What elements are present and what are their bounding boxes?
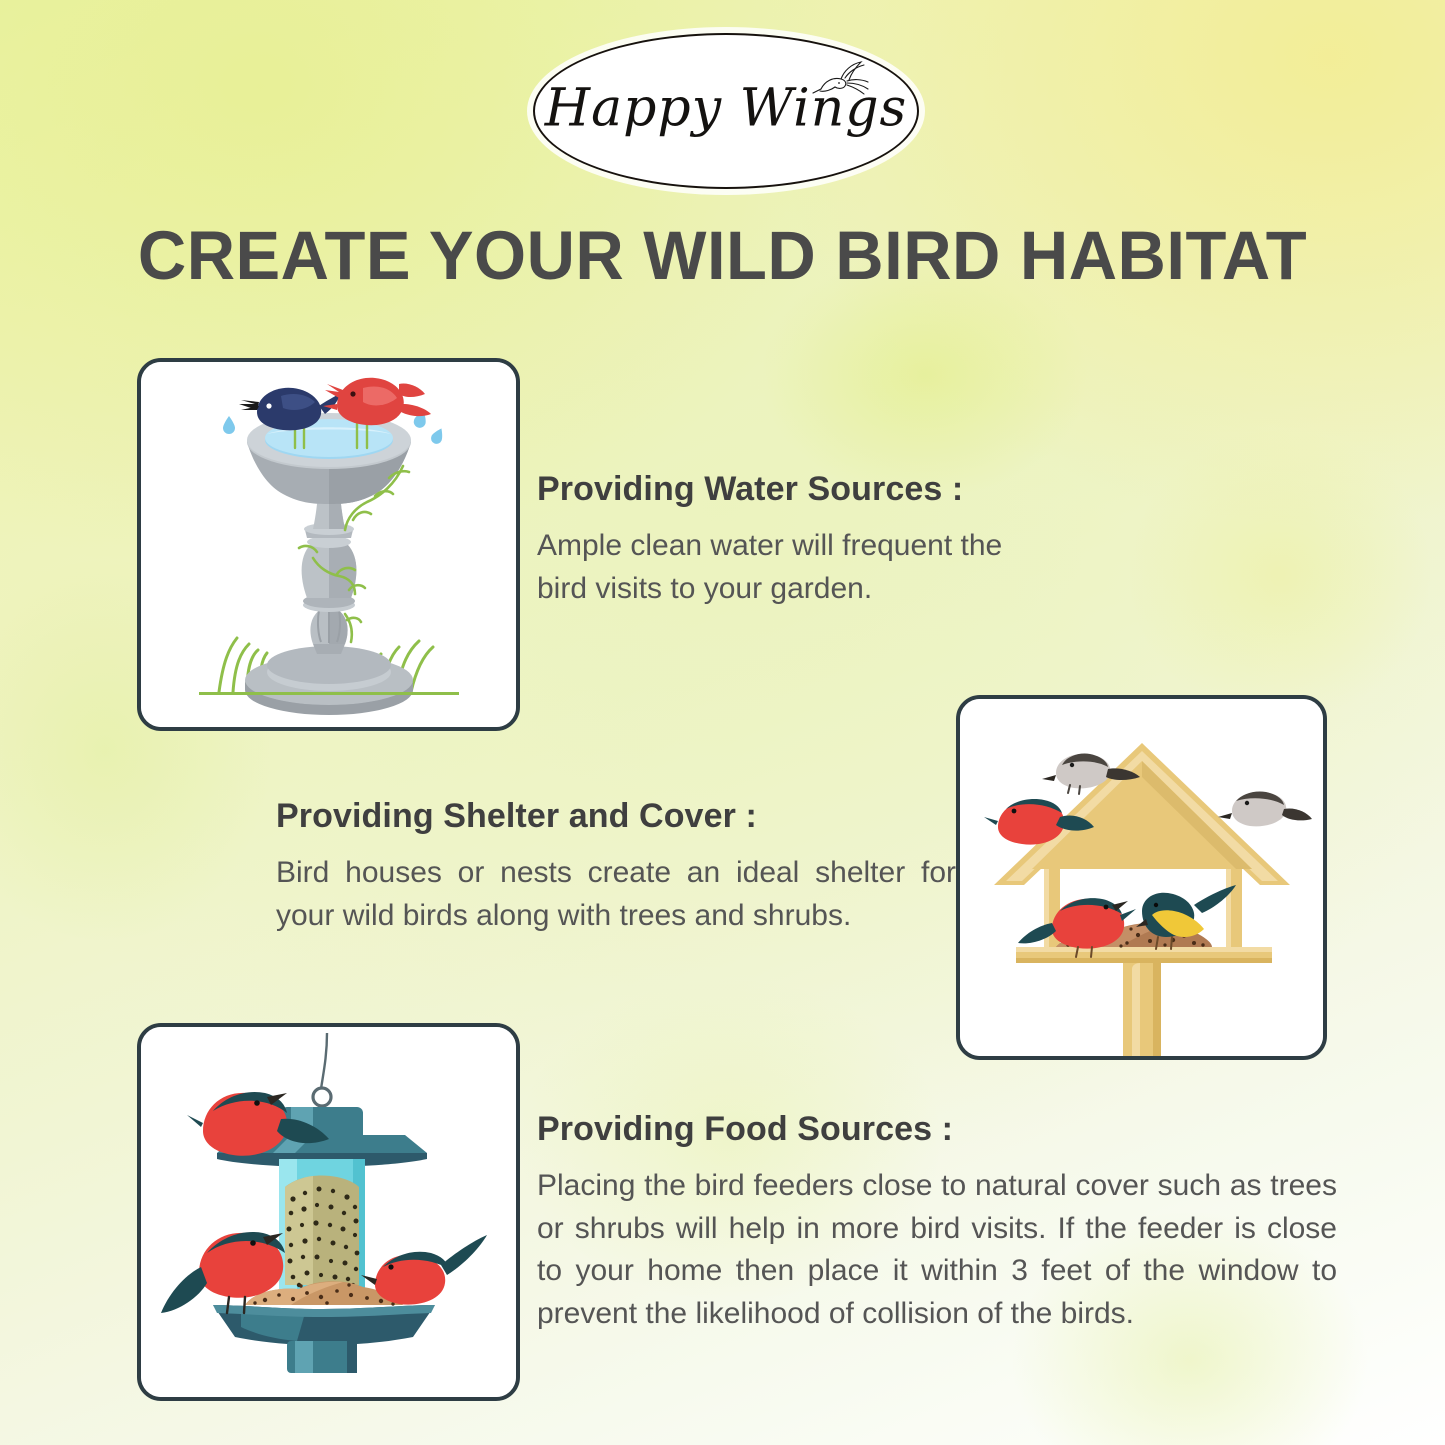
section-heading-water: Providing Water Sources :	[537, 470, 1057, 509]
section-body-shelter: Bird houses or nests create an ideal she…	[276, 852, 956, 937]
bird-bath-image-frame	[137, 358, 520, 731]
section-shelter: Providing Shelter and Cover : Bird house…	[276, 797, 956, 937]
page-title: CREATE YOUR WILD BIRD HABITAT	[22, 216, 1424, 295]
section-body-food: Placing the bird feeders close to natura…	[537, 1165, 1337, 1335]
section-water: Providing Water Sources : Ample clean wa…	[537, 470, 1057, 610]
seed-feeder-image-frame	[137, 1023, 520, 1401]
section-heading-shelter: Providing Shelter and Cover :	[276, 797, 956, 836]
hanging-seed-feeder-illustration	[141, 1027, 516, 1397]
bird-house-illustration	[960, 699, 1323, 1056]
bird-house-image-frame	[956, 695, 1327, 1060]
bird-bath-illustration	[141, 362, 516, 727]
brand-logo: Happy Wings	[533, 33, 919, 189]
section-body-water: Ample clean water will frequent the bird…	[537, 525, 1057, 610]
hummingbird-icon	[811, 59, 873, 105]
poster-canvas: Happy Wings CREATE YOUR WILD BIRD HABITA…	[0, 0, 1445, 1445]
section-heading-food: Providing Food Sources :	[537, 1110, 1337, 1149]
section-food: Providing Food Sources : Placing the bir…	[537, 1110, 1337, 1335]
background-blotch	[1130, 430, 1430, 720]
